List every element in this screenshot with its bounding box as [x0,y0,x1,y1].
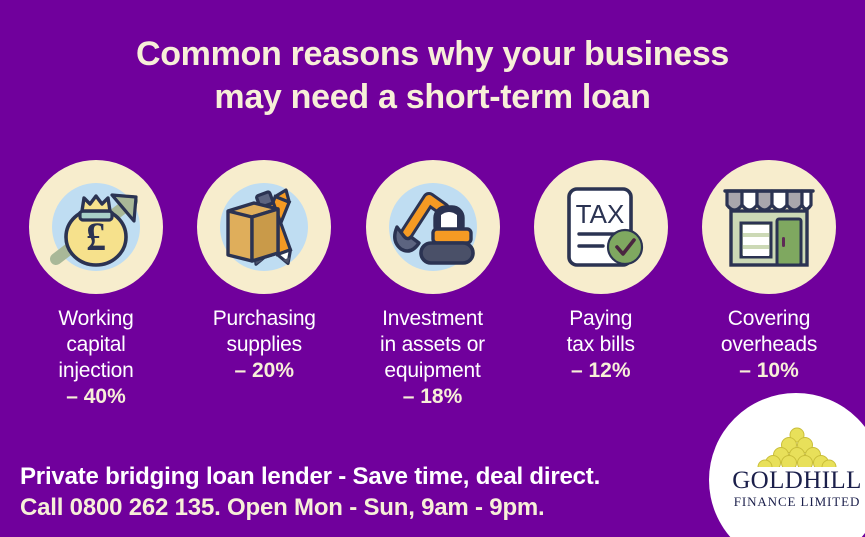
reason-caption: Paying tax bills – 12% [521,306,681,384]
reason-item-tax-bills: TAX Paying tax bills – 12% [523,160,679,384]
caption-line: Covering [728,307,810,330]
title-line-2: may need a short-term loan [0,76,865,119]
caption-line: Paying [569,307,632,330]
logo-name: GOLDHILL [729,468,865,494]
logo-badge: GOLDHILL FINANCE LIMITED [709,393,865,537]
box-and-pencils-icon [197,160,331,294]
reason-percent: – 20% [184,358,344,384]
reason-caption: Investment in assets or equipment – 18% [353,306,513,410]
logo-subtitle: FINANCE LIMITED [729,494,865,510]
reason-percent: – 10% [689,358,849,384]
caption-line: in assets or [380,333,485,356]
reason-percent: – 40% [16,384,176,410]
caption-line: Investment [382,307,483,330]
storefront-icon [702,160,836,294]
infographic-canvas: Common reasons why your business may nee… [0,0,865,537]
reason-percent: – 12% [521,358,681,384]
caption-line: overheads [721,333,817,356]
caption-line: capital [66,333,125,356]
caption-line: supplies [227,333,302,356]
reason-percent: – 18% [353,384,513,410]
footer-tagline: Private bridging loan lender - Save time… [20,461,600,492]
reason-item-investment-assets: Investment in assets or equipment – 18% [355,160,511,410]
gold-pyramid-icon [745,427,849,467]
caption-line: Working [58,307,133,330]
reason-item-purchasing-supplies: Purchasing supplies – 20% [186,160,342,384]
title-line-1: Common reasons why your business [0,33,865,76]
caption-line: injection [58,359,133,382]
footer-contact: Private bridging loan lender - Save time… [20,461,600,523]
reason-caption: Covering overheads – 10% [689,306,849,384]
svg-text:£: £ [86,214,106,259]
page-title: Common reasons why your business may nee… [0,33,865,119]
logo: GOLDHILL FINANCE LIMITED [729,427,865,510]
reason-item-covering-overheads: Covering overheads – 10% [691,160,847,384]
money-bag-growth-icon: £ [29,160,163,294]
caption-line: equipment [384,359,480,382]
reasons-row: £ Working capital injection – 40% [18,160,847,410]
reason-caption: Purchasing supplies – 20% [184,306,344,384]
reason-item-working-capital: £ Working capital injection – 40% [18,160,174,410]
reason-caption: Working capital injection – 40% [16,306,176,410]
svg-text:TAX: TAX [575,199,624,229]
footer-phone-hours: Call 0800 262 135. Open Mon - Sun, 9am -… [20,492,600,523]
tax-document-check-icon: TAX [534,160,668,294]
excavator-icon [366,160,500,294]
caption-line: Purchasing [213,307,316,330]
caption-line: tax bills [567,333,635,356]
